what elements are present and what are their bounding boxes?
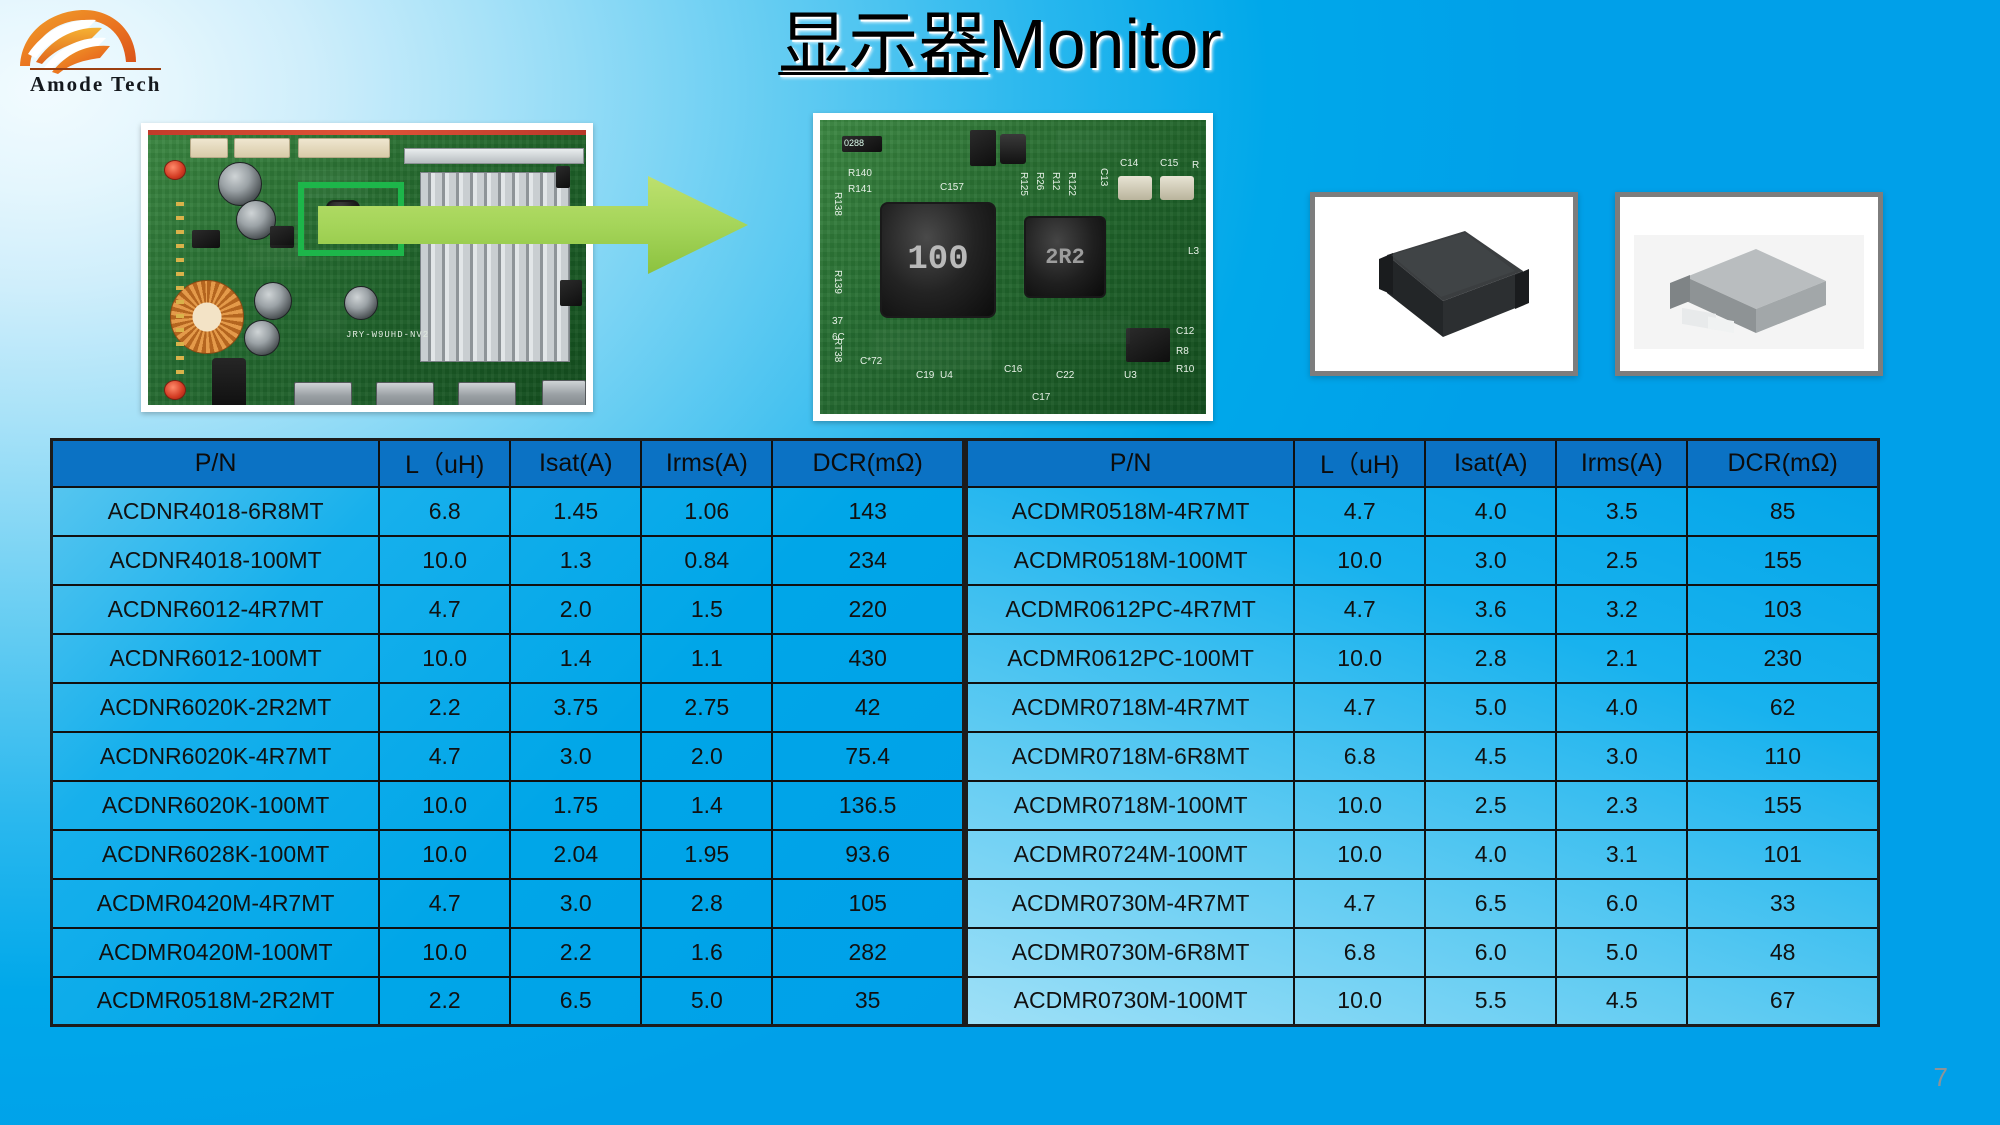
cell-irms: 3.1 — [1556, 830, 1687, 879]
cell-l: 6.8 — [1294, 928, 1425, 977]
cell-pn: ACDNR4018-100MT — [52, 536, 380, 585]
table-row: ACDMR0420M-100MT10.02.21.6282 — [52, 928, 964, 977]
cell-dcr: 75.4 — [772, 732, 963, 781]
cell-isat: 3.6 — [1425, 585, 1556, 634]
page-title: 显示器Monitor — [0, 6, 2000, 83]
table-row: ACDMR0518M-4R7MT4.74.03.585 — [967, 487, 1879, 536]
cell-isat: 5.0 — [1425, 683, 1556, 732]
table-row: ACDNR4018-100MT10.01.30.84234 — [52, 536, 964, 585]
cell-dcr: 110 — [1687, 732, 1878, 781]
cell-dcr: 67 — [1687, 977, 1878, 1026]
cell-pn: ACDMR0518M-100MT — [967, 536, 1295, 585]
table-row: ACDMR0730M-6R8MT6.86.05.048 — [967, 928, 1879, 977]
cell-dcr: 282 — [772, 928, 963, 977]
inductor-photo-icon — [1315, 197, 1573, 371]
cell-dcr: 105 — [772, 879, 963, 928]
cell-l: 10.0 — [379, 830, 510, 879]
cell-isat: 1.3 — [510, 536, 641, 585]
cell-irms: 2.1 — [1556, 634, 1687, 683]
cell-pn: ACDNR6020K-2R2MT — [52, 683, 380, 732]
table-row: ACDMR0730M-4R7MT4.76.56.033 — [967, 879, 1879, 928]
cell-dcr: 430 — [772, 634, 963, 683]
cell-l: 4.7 — [379, 879, 510, 928]
cell-isat: 2.2 — [510, 928, 641, 977]
cell-isat: 2.5 — [1425, 781, 1556, 830]
cell-dcr: 234 — [772, 536, 963, 585]
cell-dcr: 103 — [1687, 585, 1878, 634]
cell-isat: 6.0 — [1425, 928, 1556, 977]
cell-irms: 2.0 — [641, 732, 772, 781]
cell-pn: ACDNR4018-6R8MT — [52, 487, 380, 536]
col-header-isat: Isat(A) — [510, 440, 641, 487]
table-row: ACDNR6012-100MT10.01.41.1430 — [52, 634, 964, 683]
cell-dcr: 35 — [772, 977, 963, 1026]
cell-pn: ACDMR0420M-100MT — [52, 928, 380, 977]
col-header-dcr: DCR(mΩ) — [1687, 440, 1878, 487]
cell-pn: ACDMR0730M-4R7MT — [967, 879, 1295, 928]
cell-dcr: 155 — [1687, 536, 1878, 585]
cell-l: 4.7 — [1294, 683, 1425, 732]
cell-pn: ACDMR0612PC-100MT — [967, 634, 1295, 683]
table-row: ACDMR0718M-6R8MT6.84.53.0110 — [967, 732, 1879, 781]
cell-isat: 3.0 — [1425, 536, 1556, 585]
col-header-isat: Isat(A) — [1425, 440, 1556, 487]
cell-l: 4.7 — [1294, 585, 1425, 634]
cell-irms: 3.5 — [1556, 487, 1687, 536]
cell-l: 6.8 — [1294, 732, 1425, 781]
table-row: ACDNR6028K-100MT10.02.041.9593.6 — [52, 830, 964, 879]
cell-pn: ACDNR6012-4R7MT — [52, 585, 380, 634]
cell-isat: 4.5 — [1425, 732, 1556, 781]
cell-l: 10.0 — [1294, 977, 1425, 1026]
cell-irms: 1.4 — [641, 781, 772, 830]
mainboard-zoom-photo: 0288 R140 R141 R138 R139 RT38 37 6C C157… — [813, 113, 1213, 421]
spec-table-left: P/N L（uH) Isat(A) Irms(A) DCR(mΩ) ACDNR4… — [50, 438, 965, 1027]
table-row: ACDNR6020K-4R7MT4.73.02.075.4 — [52, 732, 964, 781]
cell-irms: 2.75 — [641, 683, 772, 732]
page-number: 7 — [1934, 1062, 1948, 1093]
cell-isat: 2.04 — [510, 830, 641, 879]
cell-l: 4.7 — [379, 585, 510, 634]
cell-isat: 4.0 — [1425, 830, 1556, 879]
smd-power-inductor-black-photo — [1310, 192, 1578, 376]
page-title-english: Monitor — [988, 5, 1221, 83]
table-row: ACDNR4018-6R8MT6.81.451.06143 — [52, 487, 964, 536]
table-row: ACDMR0420M-4R7MT4.73.02.8105 — [52, 879, 964, 928]
cell-dcr: 230 — [1687, 634, 1878, 683]
table-row: ACDMR0730M-100MT10.05.54.567 — [967, 977, 1879, 1026]
cell-irms: 1.1 — [641, 634, 772, 683]
col-header-l: L（uH) — [1294, 440, 1425, 487]
specification-tables: P/N L（uH) Isat(A) Irms(A) DCR(mΩ) ACDNR4… — [50, 438, 1880, 1027]
cell-pn: ACDMR0518M-2R2MT — [52, 977, 380, 1026]
cell-l: 10.0 — [379, 781, 510, 830]
cell-dcr: 62 — [1687, 683, 1878, 732]
cell-irms: 0.84 — [641, 536, 772, 585]
process-arrow-icon — [318, 170, 838, 280]
cell-isat: 6.5 — [510, 977, 641, 1026]
cell-dcr: 93.6 — [772, 830, 963, 879]
table-row: ACDMR0724M-100MT10.04.03.1101 — [967, 830, 1879, 879]
cell-isat: 3.0 — [510, 732, 641, 781]
cell-irms: 1.5 — [641, 585, 772, 634]
cell-l: 2.2 — [379, 977, 510, 1026]
cell-isat: 1.75 — [510, 781, 641, 830]
col-header-irms: Irms(A) — [1556, 440, 1687, 487]
cell-irms: 2.5 — [1556, 536, 1687, 585]
cell-irms: 1.6 — [641, 928, 772, 977]
cell-pn: ACDNR6020K-100MT — [52, 781, 380, 830]
cell-pn: ACDNR6028K-100MT — [52, 830, 380, 879]
table-header-row: P/N L（uH) Isat(A) Irms(A) DCR(mΩ) — [52, 440, 964, 487]
cell-irms: 6.0 — [1556, 879, 1687, 928]
cell-isat: 1.4 — [510, 634, 641, 683]
table-row: ACDMR0612PC-4R7MT4.73.63.2103 — [967, 585, 1879, 634]
table-row: ACDNR6012-4R7MT4.72.01.5220 — [52, 585, 964, 634]
cell-l: 4.7 — [1294, 487, 1425, 536]
pcb-silkscreen-id: JRY-W9UHD-NV2 — [346, 330, 429, 340]
cell-l: 2.2 — [379, 683, 510, 732]
table-header-row: P/N L（uH) Isat(A) Irms(A) DCR(mΩ) — [967, 440, 1879, 487]
cell-isat: 5.5 — [1425, 977, 1556, 1026]
cell-l: 10.0 — [379, 536, 510, 585]
cell-isat: 4.0 — [1425, 487, 1556, 536]
cell-dcr: 48 — [1687, 928, 1878, 977]
cell-l: 10.0 — [1294, 634, 1425, 683]
cell-irms: 5.0 — [1556, 928, 1687, 977]
cell-pn: ACDMR0730M-6R8MT — [967, 928, 1295, 977]
cell-dcr: 101 — [1687, 830, 1878, 879]
cell-pn: ACDMR0718M-100MT — [967, 781, 1295, 830]
table-row: ACDMR0518M-100MT10.03.02.5155 — [967, 536, 1879, 585]
table-row: ACDMR0718M-100MT10.02.52.3155 — [967, 781, 1879, 830]
cell-dcr: 136.5 — [772, 781, 963, 830]
cell-irms: 1.95 — [641, 830, 772, 879]
col-header-dcr: DCR(mΩ) — [772, 440, 963, 487]
table-row: ACDNR6020K-2R2MT2.23.752.7542 — [52, 683, 964, 732]
cell-pn: ACDMR0518M-4R7MT — [967, 487, 1295, 536]
cell-pn: ACDMR0420M-4R7MT — [52, 879, 380, 928]
col-header-pn: P/N — [52, 440, 380, 487]
inductor-2r2: 2R2 — [1024, 216, 1106, 298]
cell-irms: 2.8 — [641, 879, 772, 928]
cell-pn: ACDNR6012-100MT — [52, 634, 380, 683]
cell-irms: 3.2 — [1556, 585, 1687, 634]
cell-l: 4.7 — [379, 732, 510, 781]
cell-dcr: 220 — [772, 585, 963, 634]
cell-dcr: 42 — [772, 683, 963, 732]
cell-isat: 1.45 — [510, 487, 641, 536]
page-title-chinese: 显示器 — [778, 3, 988, 85]
cell-isat: 6.5 — [1425, 879, 1556, 928]
cell-pn: ACDNR6020K-4R7MT — [52, 732, 380, 781]
cell-pn: ACDMR0724M-100MT — [967, 830, 1295, 879]
cell-irms: 5.0 — [641, 977, 772, 1026]
cell-pn: ACDMR0730M-100MT — [967, 977, 1295, 1026]
table-row: ACDNR6020K-100MT10.01.751.4136.5 — [52, 781, 964, 830]
cell-l: 10.0 — [379, 928, 510, 977]
table-row: ACDMR0718M-4R7MT4.75.04.062 — [967, 683, 1879, 732]
cell-l: 10.0 — [1294, 830, 1425, 879]
cell-isat: 2.0 — [510, 585, 641, 634]
cell-pn: ACDMR0612PC-4R7MT — [967, 585, 1295, 634]
cell-dcr: 143 — [772, 487, 963, 536]
col-header-pn: P/N — [967, 440, 1295, 487]
col-header-irms: Irms(A) — [641, 440, 772, 487]
cell-l: 10.0 — [1294, 781, 1425, 830]
cell-irms: 2.3 — [1556, 781, 1687, 830]
inductor-drawing-icon — [1620, 197, 1878, 371]
cell-irms: 4.5 — [1556, 977, 1687, 1026]
cell-l: 6.8 — [379, 487, 510, 536]
cell-irms: 4.0 — [1556, 683, 1687, 732]
inductor-100: 100 — [880, 202, 996, 318]
smd-power-inductor-drawing — [1615, 192, 1883, 376]
cell-pn: ACDMR0718M-4R7MT — [967, 683, 1295, 732]
table-row: ACDMR0518M-2R2MT2.26.55.035 — [52, 977, 964, 1026]
slide-canvas: Amode Tech 显示器Monitor — [0, 0, 2000, 1125]
table-row: ACDMR0612PC-100MT10.02.82.1230 — [967, 634, 1879, 683]
cell-dcr: 85 — [1687, 487, 1878, 536]
cell-dcr: 155 — [1687, 781, 1878, 830]
cell-pn: ACDMR0718M-6R8MT — [967, 732, 1295, 781]
cell-l: 10.0 — [1294, 536, 1425, 585]
cell-l: 4.7 — [1294, 879, 1425, 928]
col-header-l: L（uH) — [379, 440, 510, 487]
spec-table-right: P/N L（uH) Isat(A) Irms(A) DCR(mΩ) ACDMR0… — [965, 438, 1880, 1027]
cell-isat: 3.75 — [510, 683, 641, 732]
cell-isat: 2.8 — [1425, 634, 1556, 683]
cell-irms: 3.0 — [1556, 732, 1687, 781]
cell-irms: 1.06 — [641, 487, 772, 536]
cell-l: 10.0 — [379, 634, 510, 683]
cell-isat: 3.0 — [510, 879, 641, 928]
cell-dcr: 33 — [1687, 879, 1878, 928]
